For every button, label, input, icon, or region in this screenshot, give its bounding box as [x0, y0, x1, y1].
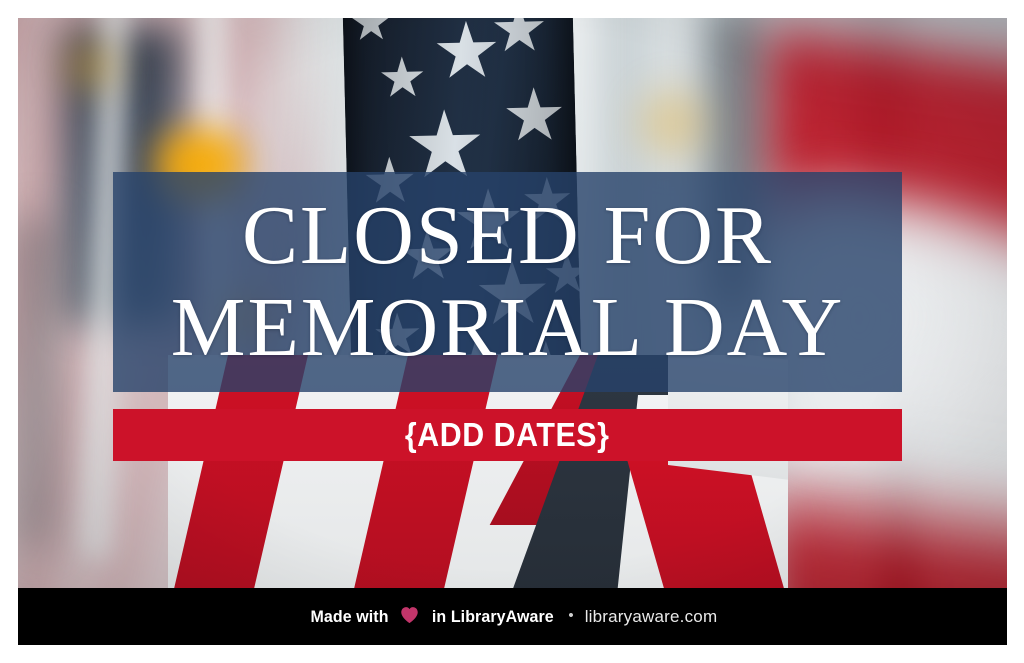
footer-made-with-label: Made with [310, 607, 388, 627]
blurred-flower-3 [49, 38, 135, 94]
poster-canvas: CLOSED FOR MEMORIAL DAY {ADD DATES} Made… [18, 18, 1007, 645]
headline-line-2: MEMORIAL DAY [171, 283, 844, 373]
blurred-flower-4 [618, 78, 728, 168]
heart-icon [400, 606, 419, 629]
poster-root: CLOSED FOR MEMORIAL DAY {ADD DATES} Made… [0, 0, 1024, 663]
footer-brand-label: in LibraryAware [432, 607, 554, 627]
date-band: {ADD DATES} [113, 409, 902, 461]
headline-line-1: CLOSED FOR [242, 191, 773, 281]
footer-separator-dot: • [568, 608, 573, 623]
footer-credit: Made with in LibraryAware • libraryaware… [308, 605, 718, 628]
headline-banner: CLOSED FOR MEMORIAL DAY [113, 172, 902, 392]
blurred-dark-post-1 [18, 218, 54, 548]
footer-bar: Made with in LibraryAware • libraryaware… [18, 588, 1007, 645]
footer-website-url[interactable]: libraryaware.com [585, 607, 718, 627]
date-placeholder-text[interactable]: {ADD DATES} [405, 416, 610, 454]
